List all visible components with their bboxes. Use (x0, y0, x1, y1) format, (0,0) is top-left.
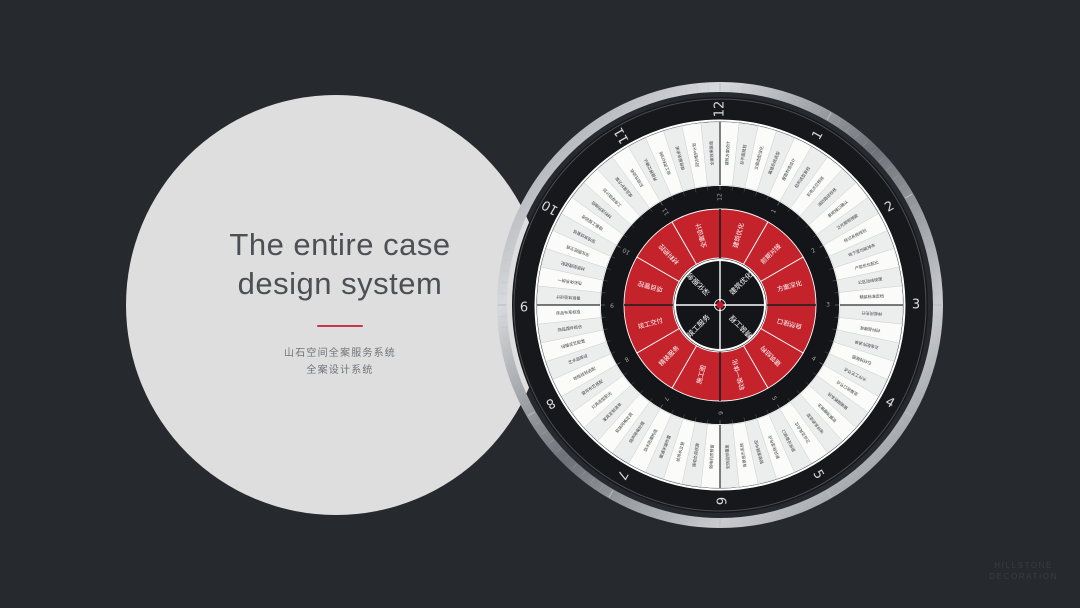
brand-watermark: HILLSTONE DECORATION (989, 560, 1058, 582)
dial-svg: 121234567891011建筑方案设计总平面规划立面造型深化幕墙系统选型屋面… (497, 82, 943, 528)
center-dot (716, 301, 723, 308)
outer-clock-number: 12 (713, 101, 728, 118)
inner-clock-number: 9 (610, 302, 614, 309)
outer-clock-number: 3 (912, 298, 920, 313)
outer-ring-item-label: 样板间先行 (861, 310, 882, 317)
slide-canvas: The entire case design system 山石空间全案服务系统… (0, 0, 1080, 608)
watermark-line-1: HILLSTONE (989, 560, 1058, 571)
outer-clock-number: 6 (713, 497, 728, 505)
inner-clock-number: 3 (826, 302, 830, 309)
watermark-line-2: DECORATION (989, 571, 1058, 582)
inner-clock-number: 6 (717, 411, 724, 415)
inner-clock-number: 12 (717, 193, 724, 201)
radial-dial-diagram: 121234567891011建筑方案设计总平面规划立面造型深化幕墙系统选型屋面… (497, 82, 943, 528)
title-disc (126, 95, 546, 515)
outer-clock-number: 9 (520, 298, 528, 313)
